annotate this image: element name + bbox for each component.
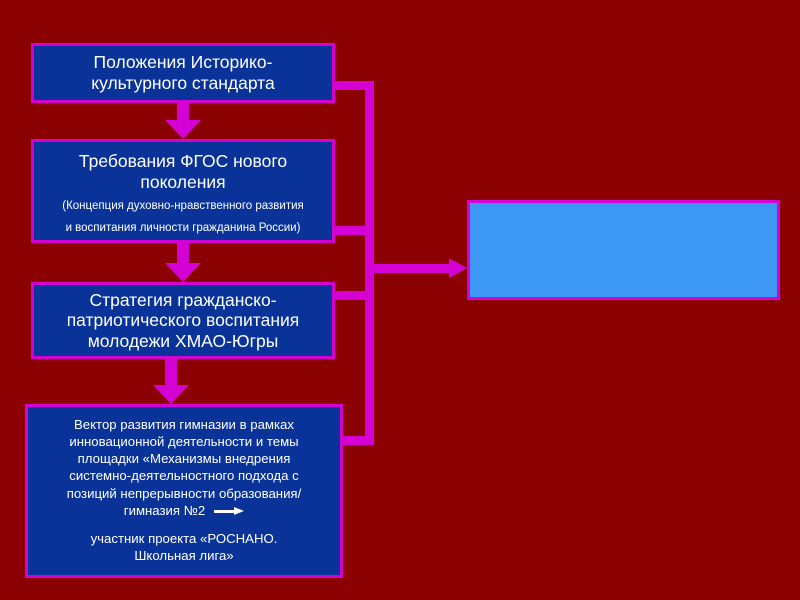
node-historical-cultural-standard[interactable]: Положения Историко- культурного стандарт…	[31, 43, 335, 103]
node-vector-line-3: площадки «Механизмы внедрения	[28, 450, 340, 467]
node-vector-tail-line-1: участник проекта «РОСНАНО.	[28, 530, 340, 547]
node-vector-line-2: инновационной деятельности и темы	[28, 433, 340, 450]
node-fgos-sub-line-1: (Концепция духовно-нравственного развити…	[34, 199, 332, 213]
node-fgos-line-1: Требования ФГОС нового	[34, 151, 332, 172]
arrow-fgos-to-strategy-icon	[165, 243, 201, 282]
node-vector-line-1: Вектор развития гимназии в рамках	[28, 416, 340, 433]
node-fgos-sub-line-2: и воспитания личности гражданина России)	[34, 221, 332, 235]
node-standard-line-1: Положения Историко-	[34, 52, 332, 73]
node-vector-line-5: позиций непрерывности образования/	[28, 485, 340, 502]
node-strategy-line-3: молодежи ХМАО-Югры	[34, 331, 332, 352]
node-vector-tail-line-2: Школьная лига»	[28, 547, 340, 564]
node-vector-line-4: системно-деятельностного подхода с	[28, 467, 340, 484]
slide-canvas: Положения Историко- культурного стандарт…	[0, 0, 800, 600]
node-vector-line-6: гимназия №2	[28, 502, 340, 519]
node-fgos-requirements[interactable]: Требования ФГОС нового поколения (Концеп…	[31, 139, 335, 243]
right-arrow-icon	[214, 507, 244, 516]
node-strategy-line-2: патриотического воспитания	[34, 310, 332, 331]
node-civic-patriotic-strategy[interactable]: Стратегия гражданско- патриотического во…	[31, 282, 335, 359]
node-fgos-line-2: поколения	[34, 172, 332, 193]
node-standard-line-2: культурного стандарта	[34, 73, 332, 94]
node-strategy-line-1: Стратегия гражданско-	[34, 290, 332, 311]
node-gymnasium-development-vector[interactable]: Вектор развития гимназии в рамках иннова…	[25, 404, 343, 578]
arrow-strategy-to-vector-icon	[153, 359, 189, 404]
arrow-bus-to-result-icon	[365, 258, 467, 278]
arrow-standard-to-fgos-icon	[165, 103, 201, 139]
node-result-empty[interactable]	[467, 200, 780, 300]
node-vector-gymnasium-number: гимназия №2	[124, 503, 205, 518]
